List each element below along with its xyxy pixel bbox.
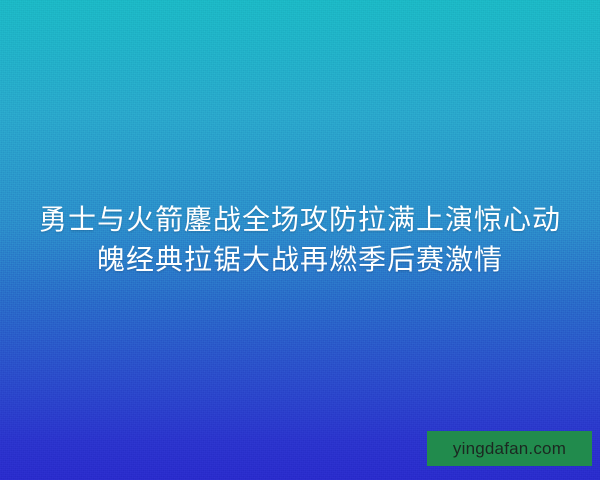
watermark-label: yingdafan.com bbox=[453, 439, 566, 459]
headline-text-block: 勇士与火箭鏖战全场攻防拉满上演惊心动 魄经典拉锯大战再燃季后赛激情 bbox=[0, 200, 600, 280]
headline-line-1: 勇士与火箭鏖战全场攻防拉满上演惊心动 bbox=[0, 200, 600, 240]
banner-image: 勇士与火箭鏖战全场攻防拉满上演惊心动 魄经典拉锯大战再燃季后赛激情 yingda… bbox=[0, 0, 600, 480]
headline-line-2: 魄经典拉锯大战再燃季后赛激情 bbox=[0, 240, 600, 280]
watermark-badge: yingdafan.com bbox=[427, 431, 592, 466]
